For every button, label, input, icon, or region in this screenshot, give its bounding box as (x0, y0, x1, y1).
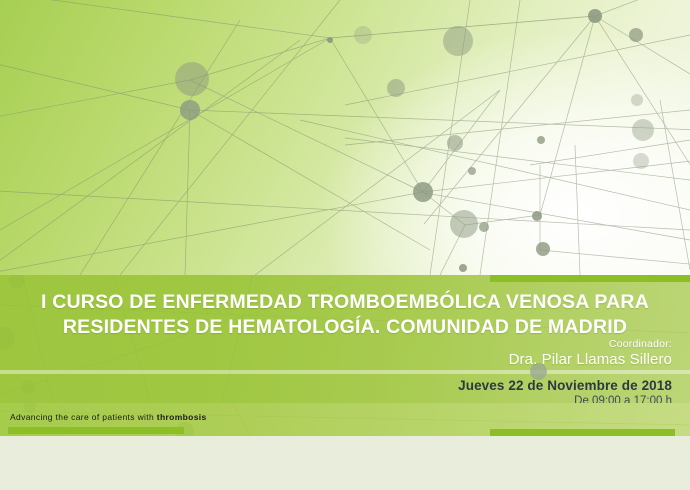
tagline-accent-bar (8, 427, 184, 434)
event-date: Jueves 22 de Noviembre de 2018 (458, 378, 672, 393)
band-divider (0, 370, 690, 374)
tagline-highlight: thrombosis (157, 412, 207, 422)
coordinator-label: Coordinador: (609, 338, 672, 350)
page-title: I CURSO DE ENFERMEDAD TROMBOEMBÓLICA VEN… (40, 290, 650, 340)
band-accent-bar (490, 275, 690, 282)
network-nodes-graphic (0, 0, 690, 275)
tagline-prefix: Advancing the care of patients with (10, 412, 157, 422)
event-poster: I CURSO DE ENFERMEDAD TROMBOEMBÓLICA VEN… (0, 0, 690, 490)
coordinator-name: Dra. Pilar Llamas Sillero (509, 351, 672, 368)
brand-tagline: Advancing the care of patients with thro… (10, 412, 207, 422)
footer: LEO ® Curso patrocinado por Laboratorios… (0, 436, 690, 490)
hero-network-graphic (0, 0, 690, 275)
footer-accent-bar (490, 429, 675, 436)
